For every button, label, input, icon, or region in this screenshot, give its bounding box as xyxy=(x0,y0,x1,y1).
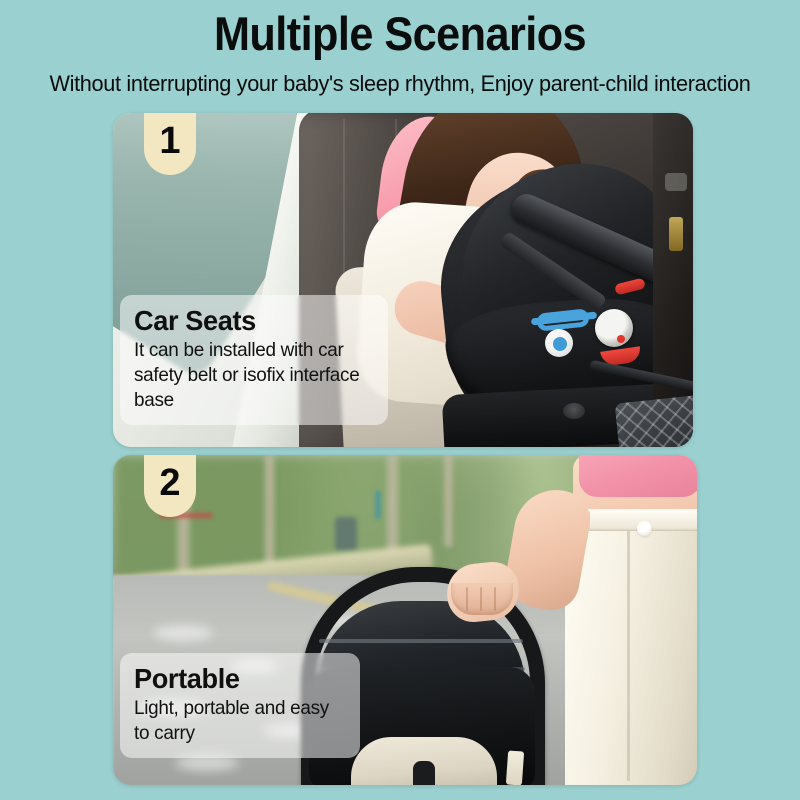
trouser-seam xyxy=(627,531,630,781)
finger-crease xyxy=(466,587,468,611)
pacifier-nipple xyxy=(553,337,567,351)
scenario-card-2[interactable]: 2 Portable Light, portable and easy to c… xyxy=(113,455,697,785)
finger-crease xyxy=(480,587,482,611)
carrier-label-tag xyxy=(506,750,524,785)
tree-trunk xyxy=(385,455,400,555)
car-seat-brand-logo xyxy=(563,403,585,419)
caption-panel-2: Portable Light, portable and easy to car… xyxy=(120,653,360,758)
step-badge-1: 1 xyxy=(144,113,196,175)
door-trim xyxy=(665,173,687,191)
caption-title: Car Seats xyxy=(134,304,367,337)
woman-pink-crop-top xyxy=(579,455,697,497)
trash-bin xyxy=(335,517,357,551)
car-floor-mat xyxy=(615,395,693,447)
page-header: Multiple Scenarios Without interrupting … xyxy=(0,0,800,110)
hinge-red-indicator xyxy=(617,335,625,343)
tree-trunk xyxy=(263,455,276,567)
door-latch xyxy=(669,217,683,251)
step-number: 2 xyxy=(144,455,196,511)
canopy-seam xyxy=(319,639,523,643)
caption-body: It can be installed with car safety belt… xyxy=(134,338,367,413)
harness-slot xyxy=(413,761,435,785)
handle-hinge-dial xyxy=(595,309,633,347)
park-sign xyxy=(375,491,381,519)
sunlight-spot xyxy=(153,625,213,641)
caption-panel-1: Car Seats It can be installed with car s… xyxy=(120,295,388,425)
tree-trunk xyxy=(443,455,454,547)
page-subtitle: Without interrupting your baby's sleep r… xyxy=(14,70,786,98)
finger-crease xyxy=(494,587,496,611)
step-badge-2: 2 xyxy=(144,455,196,517)
caption-body: Light, portable and easy to carry xyxy=(134,696,340,746)
caption-title: Portable xyxy=(134,662,340,695)
scenario-card-1[interactable]: 1 Car Seats It can be installed with car… xyxy=(113,113,693,447)
woman-fingers xyxy=(451,583,513,615)
trouser-button xyxy=(637,521,652,536)
step-number: 1 xyxy=(144,113,196,169)
page-title: Multiple Scenarios xyxy=(32,8,768,60)
